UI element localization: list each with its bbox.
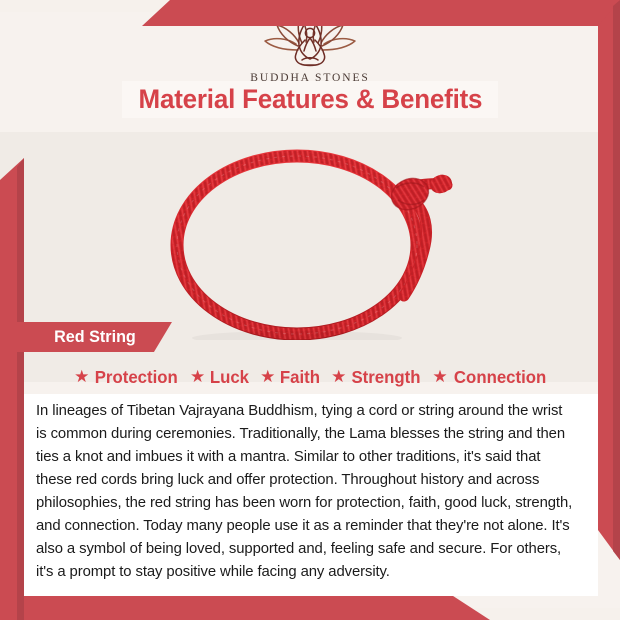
benefits-list: ★ Protection ★ Luck ★ Faith ★ Strength ★… bbox=[24, 360, 598, 394]
benefit-item-strength: ★ Strength bbox=[331, 367, 422, 388]
benefit-item-protection: ★ Protection bbox=[74, 367, 180, 388]
product-name-ribbon: Red String bbox=[16, 322, 172, 352]
star-icon: ★ bbox=[331, 368, 346, 385]
page-title: Material Features & Benefits bbox=[138, 84, 482, 115]
benefit-label: Protection bbox=[95, 367, 178, 388]
star-icon: ★ bbox=[260, 368, 275, 385]
description-text: In lineages of Tibetan Vajrayana Buddhis… bbox=[36, 400, 576, 584]
benefit-label: Strength bbox=[352, 367, 421, 388]
benefit-label: Connection bbox=[454, 367, 546, 388]
product-info-poster: BUDDHA STONES Material Features & Benefi… bbox=[0, 0, 620, 620]
description-panel: In lineages of Tibetan Vajrayana Buddhis… bbox=[24, 394, 598, 596]
benefit-item-connection: ★ Connection bbox=[432, 367, 548, 388]
star-icon: ★ bbox=[190, 368, 205, 385]
product-photo bbox=[0, 132, 620, 340]
star-icon: ★ bbox=[74, 368, 89, 385]
red-braided-string-bracelet-illustration bbox=[0, 132, 620, 340]
star-icon: ★ bbox=[432, 368, 447, 385]
product-name-label: Red String bbox=[54, 327, 136, 347]
benefit-item-luck: ★ Luck bbox=[190, 367, 250, 388]
brand-logo: BUDDHA STONES bbox=[0, 16, 620, 84]
benefit-label: Luck bbox=[210, 367, 249, 388]
benefit-item-faith: ★ Faith bbox=[260, 367, 321, 388]
frame-right-shadow bbox=[613, 0, 620, 560]
title-banner: Material Features & Benefits bbox=[122, 81, 498, 118]
benefit-label: Faith bbox=[280, 367, 320, 388]
